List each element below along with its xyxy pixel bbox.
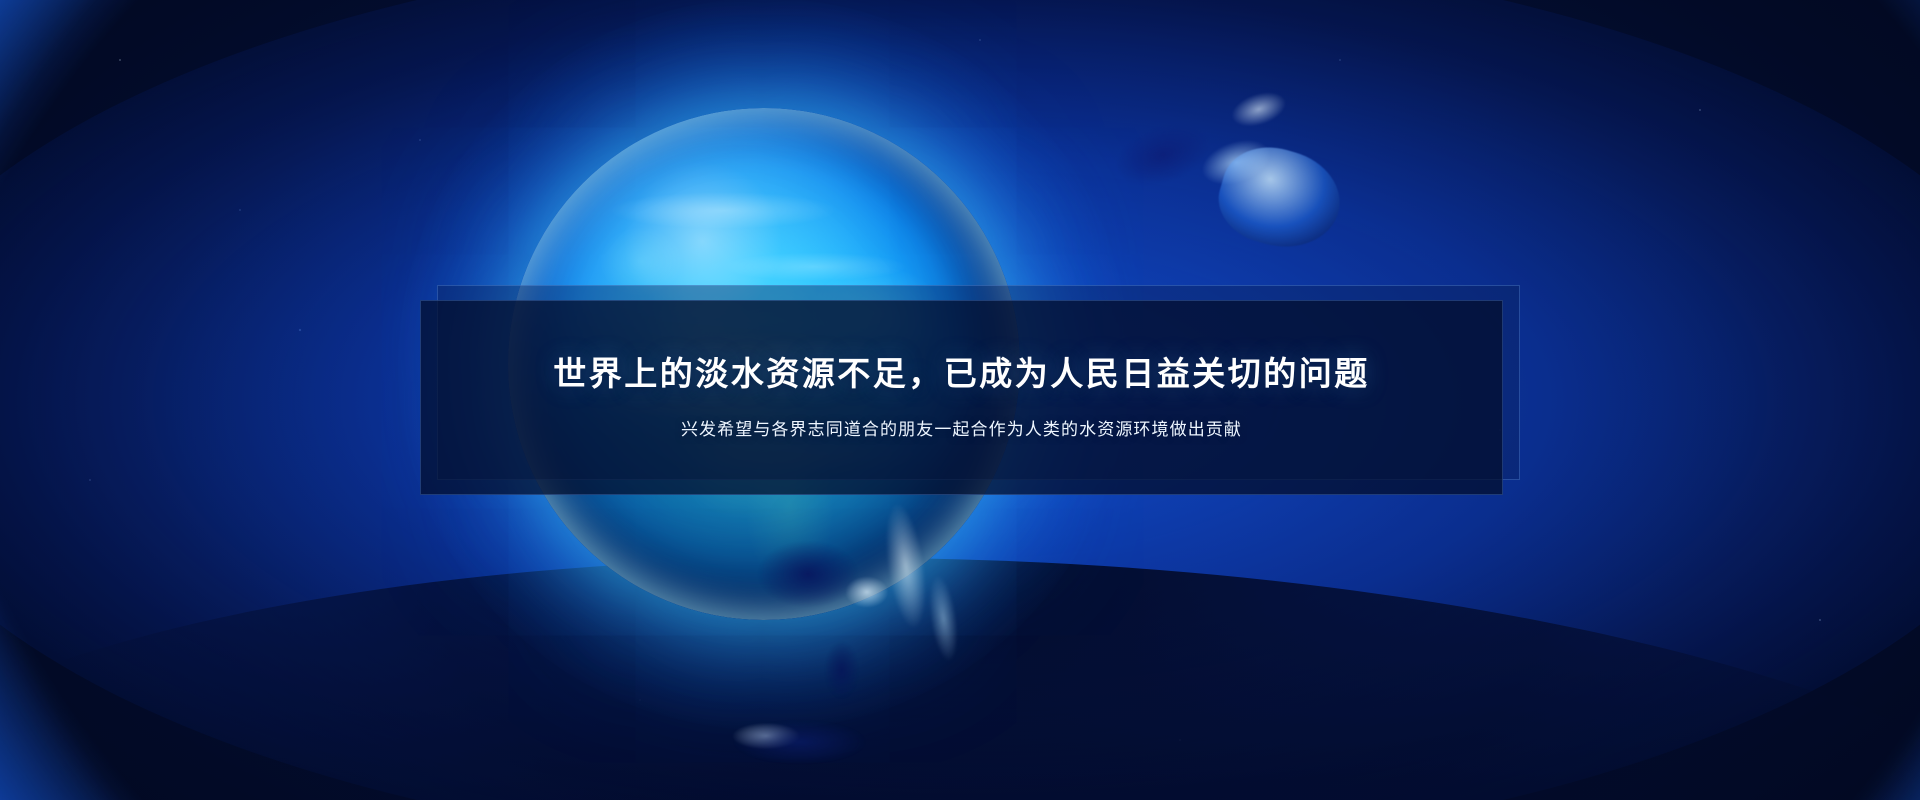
text-frame: 世界上的淡水资源不足，已成为人民日益关切的问题 兴发希望与各界志同道合的朋友一起… (0, 0, 1920, 800)
banner-subline: 兴发希望与各界志同道合的朋友一起合作为人类的水资源环境做出贡献 (681, 419, 1242, 441)
banner-headline: 世界上的淡水资源不足，已成为人民日益关切的问题 (553, 354, 1370, 394)
hero-banner: 世界上的淡水资源不足，已成为人民日益关切的问题 兴发希望与各界志同道合的朋友一起… (0, 0, 1920, 800)
banner-text-block: 世界上的淡水资源不足，已成为人民日益关切的问题 兴发希望与各界志同道合的朋友一起… (420, 300, 1503, 495)
